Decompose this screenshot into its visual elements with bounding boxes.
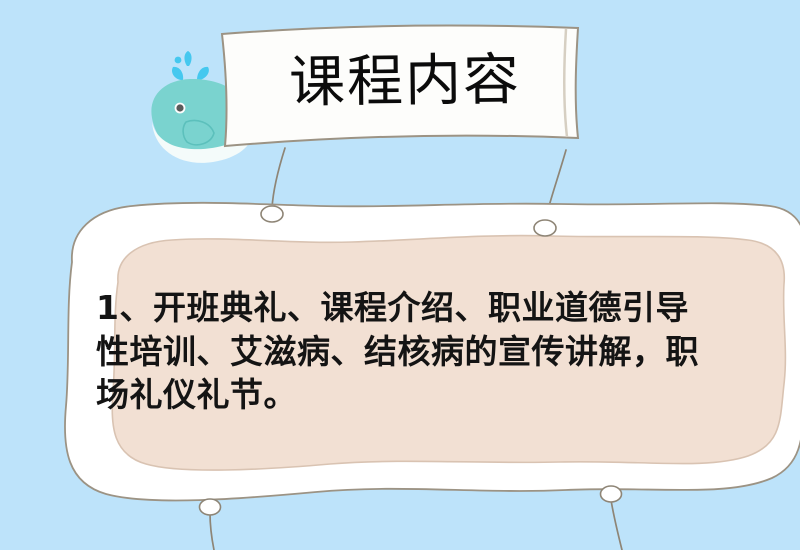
connector-ring-top-left [261, 206, 283, 222]
title-banner [222, 26, 578, 146]
connector-ring-top-right [534, 220, 556, 236]
connector-ring-bottom-right [601, 486, 622, 502]
whale-pupil [176, 104, 183, 111]
content-paragraph: 1、开班典礼、课程介绍、职业道德引导性培训、艾滋病、结核病的宣传讲解，职场礼仪礼… [96, 286, 706, 417]
slide-artwork [0, 0, 800, 550]
slide-canvas: 课程内容 1、开班典礼、课程介绍、职业道德引导性培训、艾滋病、结核病的宣传讲解，… [0, 0, 800, 550]
connector-ring-bottom-left [200, 499, 221, 515]
